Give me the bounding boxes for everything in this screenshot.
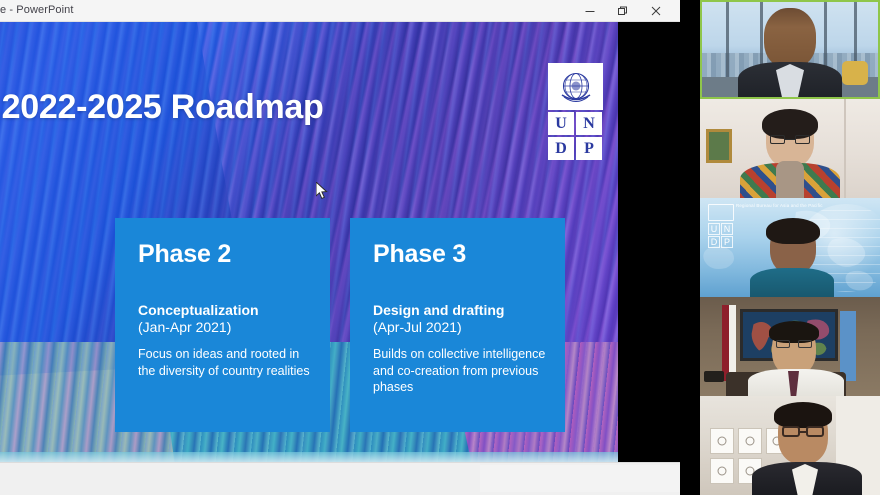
undp-logo: U N D P <box>548 63 603 158</box>
phase-card-2-body: Focus on ideas and rooted in the diversi… <box>138 346 316 379</box>
undp-letter-u: U <box>548 112 574 135</box>
participant-tile-3[interactable]: U N D P Regional Bureau for Asia and the… <box>700 198 880 297</box>
phase-card-3-subtitle: Design and drafting (Apr-Jul 2021) <box>373 302 553 335</box>
participant-5-video <box>700 396 880 495</box>
phase-card-2-subtitle: Conceptualization (Jan-Apr 2021) <box>138 302 318 335</box>
vb-letter-p: P <box>721 236 733 248</box>
participant-2-video <box>700 99 880 198</box>
slide-canvas[interactable]: ic Plan 2022-2025 Roadmap <box>0 22 618 462</box>
screen: e - PowerPoint <box>0 0 880 495</box>
phase-card-2-date: (Jan-Apr 2021) <box>138 319 318 336</box>
powerpoint-window: e - PowerPoint <box>0 0 700 495</box>
slide-stage: ic Plan 2022-2025 Roadmap <box>0 22 700 462</box>
undp-letter-p: P <box>576 137 602 160</box>
view-controls-strip <box>480 465 680 492</box>
phase-card-2-subtitle-text: Conceptualization <box>138 302 259 318</box>
minimize-button[interactable] <box>573 0 606 22</box>
phase-card-3-body: Builds on collective intelligence and co… <box>373 346 551 396</box>
participant-tile-2[interactable] <box>700 99 880 198</box>
slide-title: ic Plan 2022-2025 Roadmap <box>0 88 525 127</box>
vb-letter-n: N <box>721 223 733 235</box>
participant-3-video: U N D P Regional Bureau for Asia and the… <box>700 198 880 297</box>
participant-1-video <box>702 2 878 97</box>
phase-card-3-heading: Phase 3 <box>373 240 466 269</box>
restore-button[interactable] <box>606 0 639 22</box>
mouse-cursor <box>316 182 329 201</box>
undp-virtual-bg-logo: U N D P <box>708 204 734 248</box>
participant-tile-1[interactable] <box>700 0 880 99</box>
phase-card-2-heading: Phase 2 <box>138 240 231 269</box>
vb-letter-d: D <box>708 236 720 248</box>
participant-video-strip: U N D P Regional Bureau for Asia and the… <box>700 0 880 495</box>
un-emblem-icon <box>548 63 603 110</box>
undp-letter-n: N <box>576 112 602 135</box>
vb-letter-u: U <box>708 223 720 235</box>
undp-letter-d: D <box>548 137 574 160</box>
participant-tile-4[interactable] <box>700 297 880 396</box>
virtual-bg-caption: Regional Bureau for Asia and the Pacific <box>736 203 823 208</box>
window-title: e - PowerPoint <box>0 4 74 16</box>
participant-tile-5[interactable] <box>700 396 880 495</box>
close-button[interactable] <box>639 0 672 22</box>
phase-card-3-subtitle-text: Design and drafting <box>373 302 504 318</box>
phase-card-3[interactable]: Phase 3 Design and drafting (Apr-Jul 202… <box>350 218 565 432</box>
window-titlebar: e - PowerPoint <box>0 0 680 22</box>
phase-card-2[interactable]: Phase 2 Conceptualization (Jan-Apr 2021)… <box>115 218 330 432</box>
phase-card-3-date: (Apr-Jul 2021) <box>373 319 553 336</box>
powerpoint-statusbar <box>0 462 680 495</box>
participant-4-video <box>700 297 880 396</box>
